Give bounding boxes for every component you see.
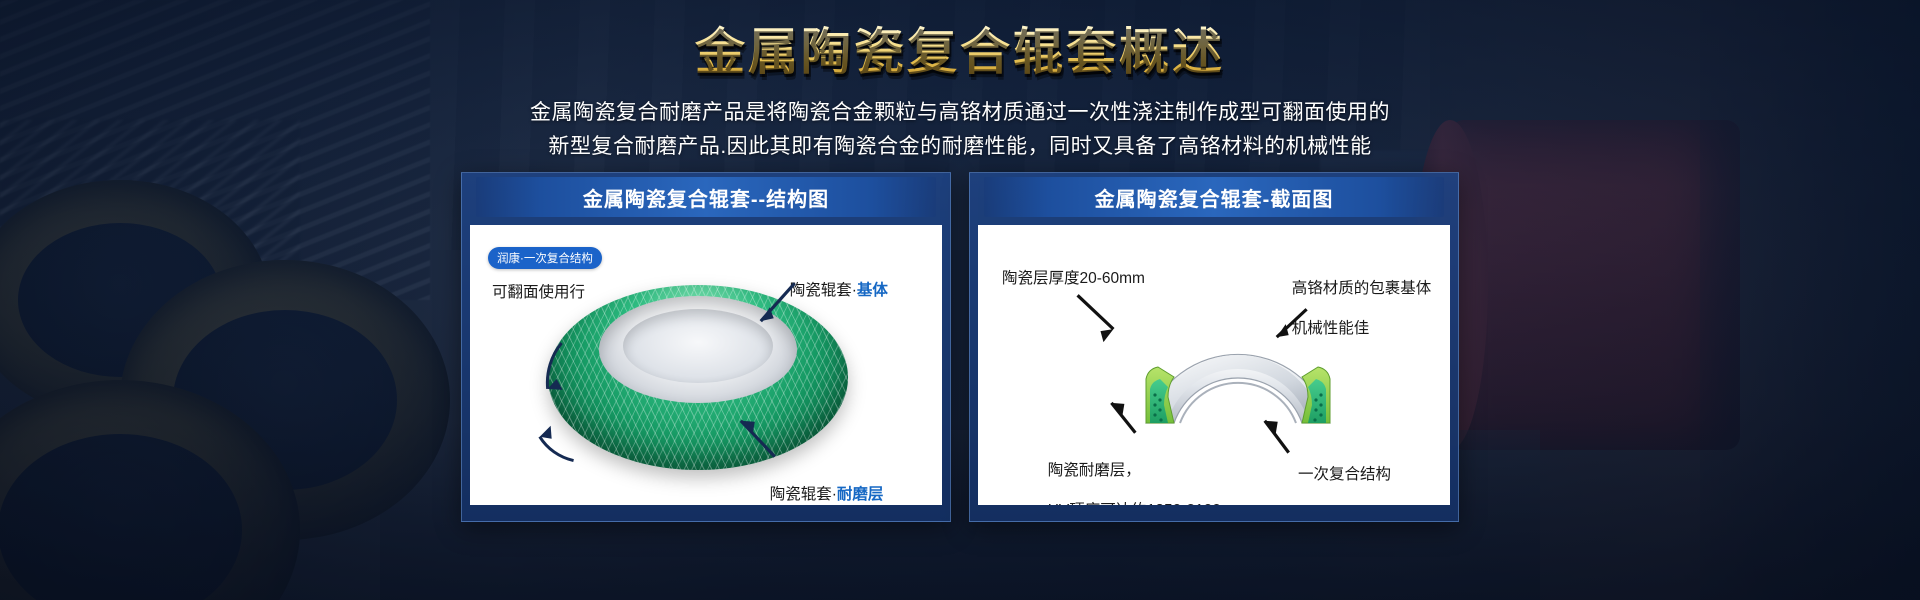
subtitle-line-2: 新型复合耐磨产品.因此其即有陶瓷合金的耐磨性能，同时又具备了高铬材料的机械性能 [0, 130, 1920, 164]
label-wear-prefix: 陶瓷辊套· [770, 486, 837, 503]
bore-opening [623, 309, 773, 383]
panel-section: 金属陶瓷复合辊套-截面图 陶瓷层厚度20-60mm 高铬材质的包裹基体 机械性能… [969, 172, 1459, 522]
label-wear-key: 耐磨层 [837, 486, 884, 503]
panel-section-body: 陶瓷层厚度20-60mm 高铬材质的包裹基体 机械性能佳 陶瓷耐磨层， HV硬度… [978, 225, 1450, 505]
badge-composite-structure: 润康·一次复合结构 [488, 247, 602, 269]
panel-container: 金属陶瓷复合辊套--结构图 润康·一次复合结构 可翻面使用行 陶瓷辊套·基体 陶… [0, 172, 1920, 522]
panel-structure-body: 润康·一次复合结构 可翻面使用行 陶瓷辊套·基体 陶瓷辊套·耐磨层 [470, 225, 942, 505]
panel-section-footer [978, 505, 1450, 511]
panel-structure-title: 金属陶瓷复合辊套--结构图 [583, 183, 829, 212]
panel-section-frame: 金属陶瓷复合辊套-截面图 陶瓷层厚度20-60mm 高铬材质的包裹基体 机械性能… [969, 172, 1459, 522]
panel-structure-header: 金属陶瓷复合辊套--结构图 [476, 177, 936, 217]
roller-sleeve-3d-illustration [548, 285, 848, 470]
panel-section-header: 金属陶瓷复合辊套-截面图 [984, 177, 1444, 217]
panel-structure-footer [470, 505, 942, 511]
page-subtitle: 金属陶瓷复合耐磨产品是将陶瓷合金颗粒与高铬材质通过一次性浇注制作成型可翻面使用的… [0, 96, 1920, 164]
label-wear-hv-line-2: HV硬度可达约1850-2100 [1048, 502, 1221, 505]
panel-structure: 金属陶瓷复合辊套--结构图 润康·一次复合结构 可翻面使用行 陶瓷辊套·基体 陶… [461, 172, 951, 522]
panel-section-title: 金属陶瓷复合辊套-截面图 [1095, 183, 1334, 212]
header: 金属陶瓷复合辊套概述 金属陶瓷复合耐磨产品是将陶瓷合金颗粒与高铬材质通过一次性浇… [0, 0, 1920, 164]
subtitle-line-1: 金属陶瓷复合耐磨产品是将陶瓷合金颗粒与高铬材质通过一次性浇注制作成型可翻面使用的 [0, 96, 1920, 130]
page-title: 金属陶瓷复合辊套概述 [0, 24, 1920, 82]
label-substrate-key: 基体 [857, 282, 888, 299]
banner-root: 金属陶瓷复合辊套概述 金属陶瓷复合耐磨产品是将陶瓷合金颗粒与高铬材质通过一次性浇… [0, 0, 1920, 600]
cross-section-illustration [1088, 273, 1388, 473]
panel-structure-frame: 金属陶瓷复合辊套--结构图 润康·一次复合结构 可翻面使用行 陶瓷辊套·基体 陶… [461, 172, 951, 522]
label-wear-layer: 陶瓷辊套·耐磨层 [718, 465, 883, 505]
cross-section-svg [1088, 273, 1388, 473]
